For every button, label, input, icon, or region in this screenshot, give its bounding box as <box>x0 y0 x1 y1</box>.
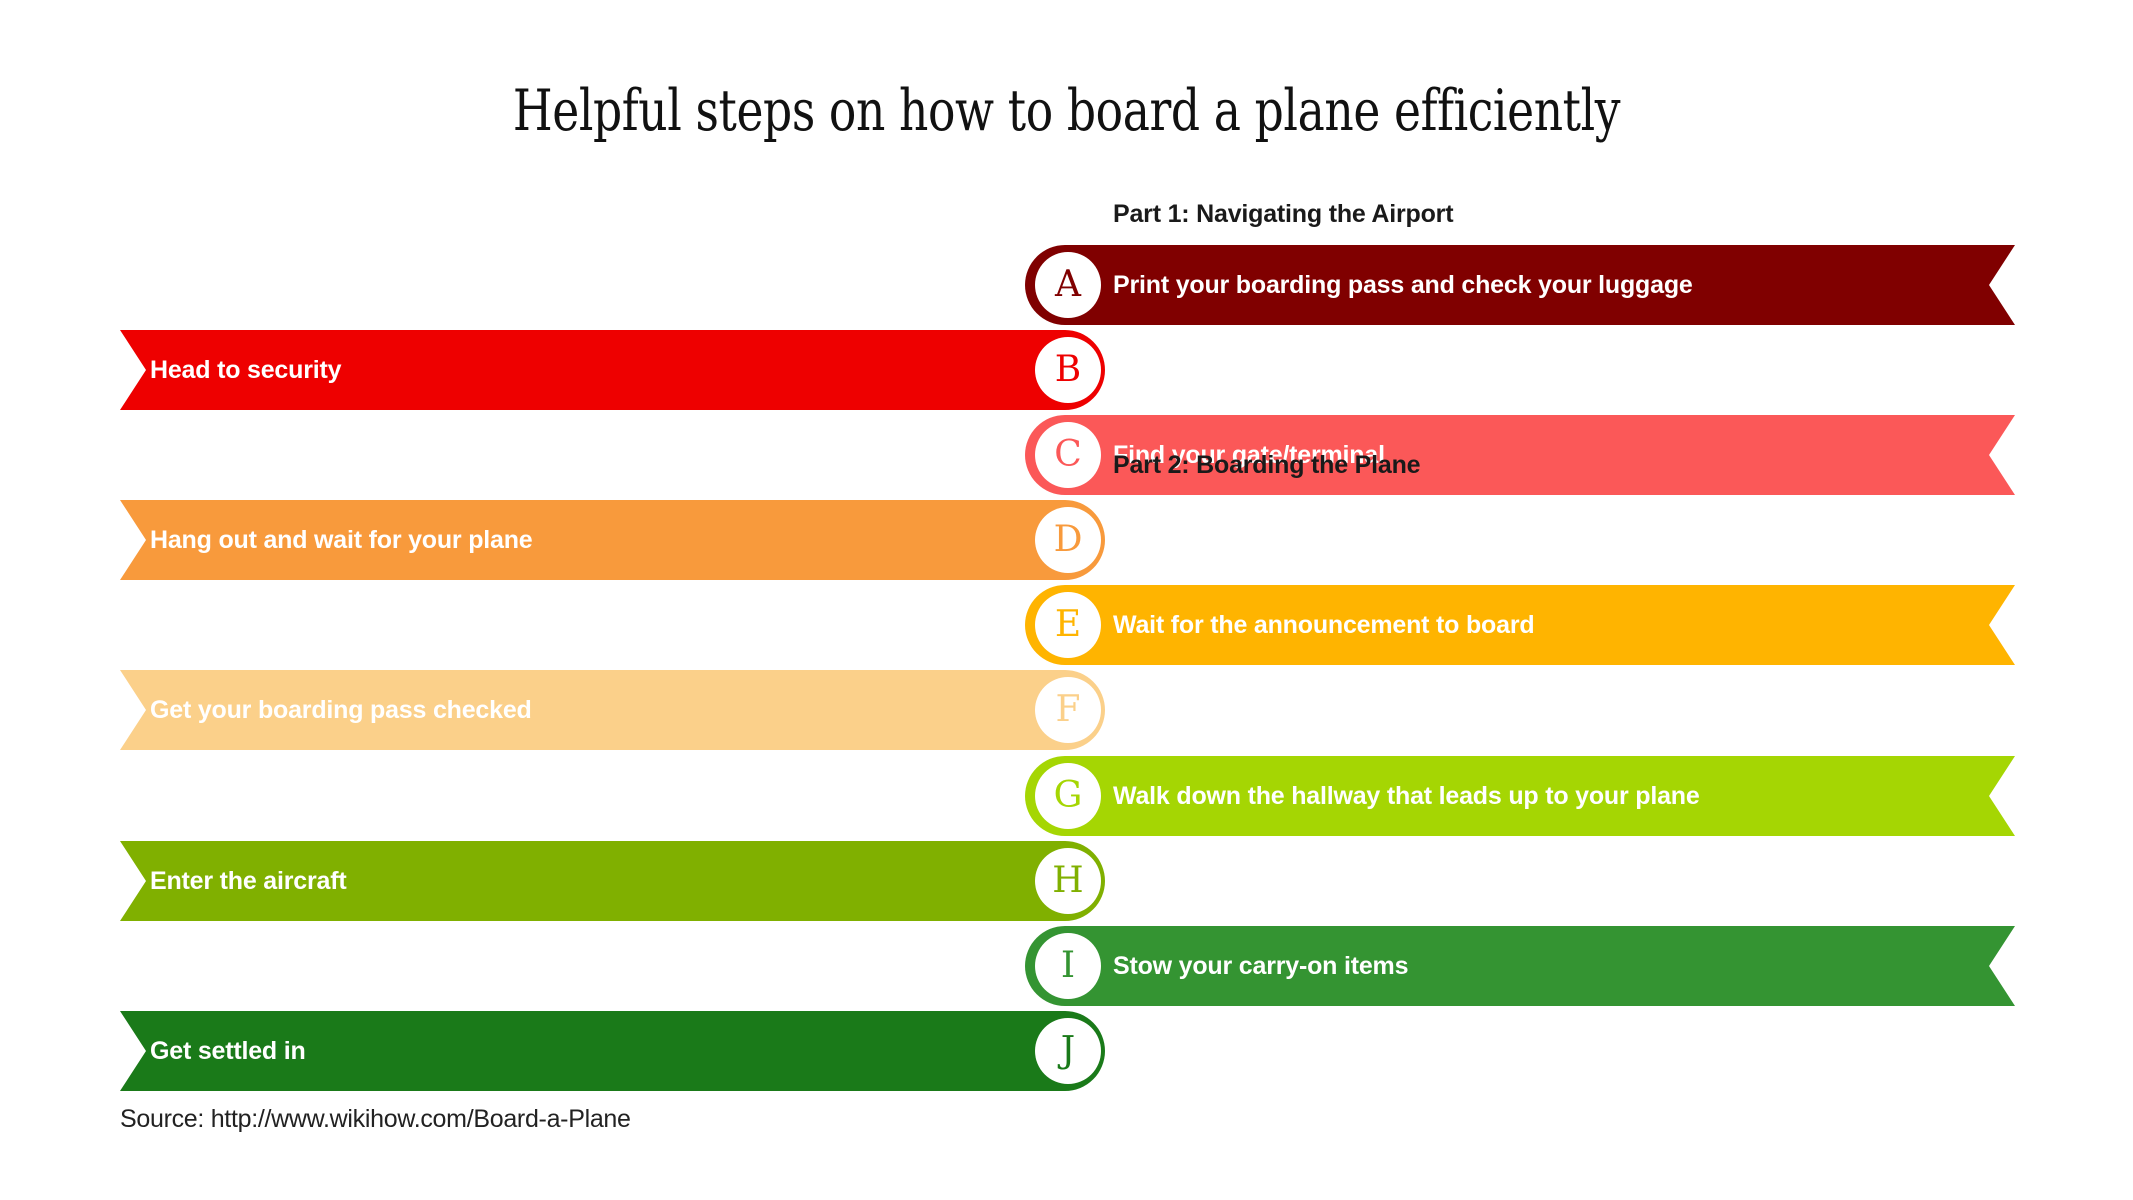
step-badge-h: H <box>1035 848 1101 914</box>
step-badge-g: G <box>1035 763 1101 829</box>
step-label-h: Enter the aircraft <box>150 841 346 921</box>
step-badge-e: E <box>1035 592 1101 658</box>
step-label-e: Wait for the announcement to board <box>1113 585 1534 665</box>
step-row-h: HEnter the aircraft <box>0 841 2133 921</box>
step-badge-d: D <box>1035 507 1101 573</box>
step-label-b: Head to security <box>150 330 341 410</box>
step-label-d: Hang out and wait for your plane <box>150 500 533 580</box>
page-title: Helpful steps on how to board a plane ef… <box>213 78 1919 144</box>
infographic-canvas: Helpful steps on how to board a plane ef… <box>0 0 2133 1200</box>
step-row-c: CFind your gate/terminal <box>0 415 2133 495</box>
source-note: Source: http://www.wikihow.com/Board-a-P… <box>120 1105 631 1134</box>
step-badge-i: I <box>1035 933 1101 999</box>
step-badge-f: F <box>1035 677 1101 743</box>
step-badge-a: A <box>1035 252 1101 318</box>
step-badge-j: J <box>1035 1018 1101 1084</box>
step-badge-b: B <box>1035 337 1101 403</box>
step-row-g: GWalk down the hallway that leads up to … <box>0 756 2133 836</box>
step-label-a: Print your boarding pass and check your … <box>1113 245 1693 325</box>
section-heading-part1: Part 1: Navigating the Airport <box>1113 200 1453 229</box>
step-row-b: BHead to security <box>0 330 2133 410</box>
section-heading-part2: Part 2: Boarding the Plane <box>1113 451 1420 480</box>
step-row-f: FGet your boarding pass checked <box>0 670 2133 750</box>
step-row-i: IStow your carry-on items <box>0 926 2133 1006</box>
step-row-j: JGet settled in <box>0 1011 2133 1091</box>
step-label-i: Stow your carry-on items <box>1113 926 1408 1006</box>
step-row-a: APrint your boarding pass and check your… <box>0 245 2133 325</box>
step-label-j: Get settled in <box>150 1011 306 1091</box>
step-row-e: EWait for the announcement to board <box>0 585 2133 665</box>
step-badge-c: C <box>1035 422 1101 488</box>
step-label-f: Get your boarding pass checked <box>150 670 532 750</box>
step-label-g: Walk down the hallway that leads up to y… <box>1113 756 1700 836</box>
step-row-d: DHang out and wait for your plane <box>0 500 2133 580</box>
